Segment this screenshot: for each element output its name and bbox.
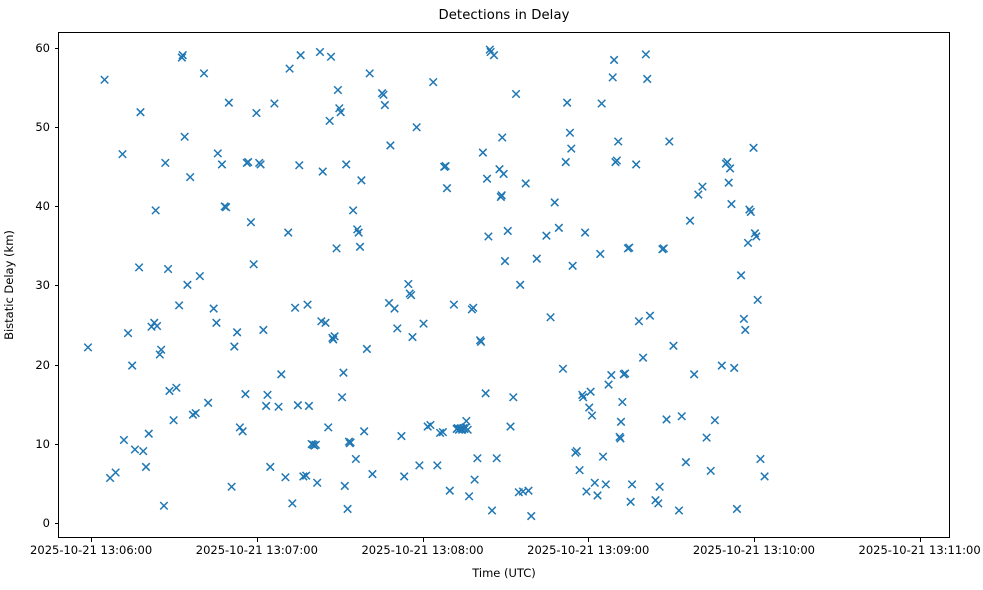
x-tick-mark bbox=[754, 538, 755, 542]
x-tick-label: 2025-10-21 13:08:00 bbox=[361, 543, 483, 557]
y-axis-label-text: Bistatic Delay (km) bbox=[2, 230, 16, 340]
x-axis-label: Time (UTC) bbox=[58, 566, 950, 580]
x-tick-label: 2025-10-21 13:10:00 bbox=[693, 543, 815, 557]
x-tick-mark bbox=[91, 538, 92, 542]
y-tick-mark bbox=[55, 285, 59, 286]
plot-area bbox=[58, 32, 950, 538]
x-tick-mark bbox=[920, 538, 921, 542]
x-tick-mark bbox=[257, 538, 258, 542]
y-tick-mark bbox=[55, 48, 59, 49]
chart-figure: Detections in Delay 2025-10-21 13:06:002… bbox=[0, 0, 983, 590]
x-tick-mark bbox=[588, 538, 589, 542]
y-tick-mark bbox=[55, 127, 59, 128]
x-tick-label: 2025-10-21 13:09:00 bbox=[527, 543, 649, 557]
x-tick-label: 2025-10-21 13:06:00 bbox=[30, 543, 152, 557]
y-axis-label: Bistatic Delay (km) bbox=[0, 32, 18, 538]
y-tick-mark bbox=[55, 206, 59, 207]
x-tick-label: 2025-10-21 13:07:00 bbox=[196, 543, 318, 557]
x-tick-label: 2025-10-21 13:11:00 bbox=[859, 543, 981, 557]
y-tick-mark bbox=[55, 444, 59, 445]
y-tick-mark bbox=[55, 365, 59, 366]
scatter-series bbox=[59, 33, 951, 539]
x-tick-mark bbox=[423, 538, 424, 542]
y-tick-mark bbox=[55, 523, 59, 524]
page-title: Detections in Delay bbox=[58, 8, 950, 23]
